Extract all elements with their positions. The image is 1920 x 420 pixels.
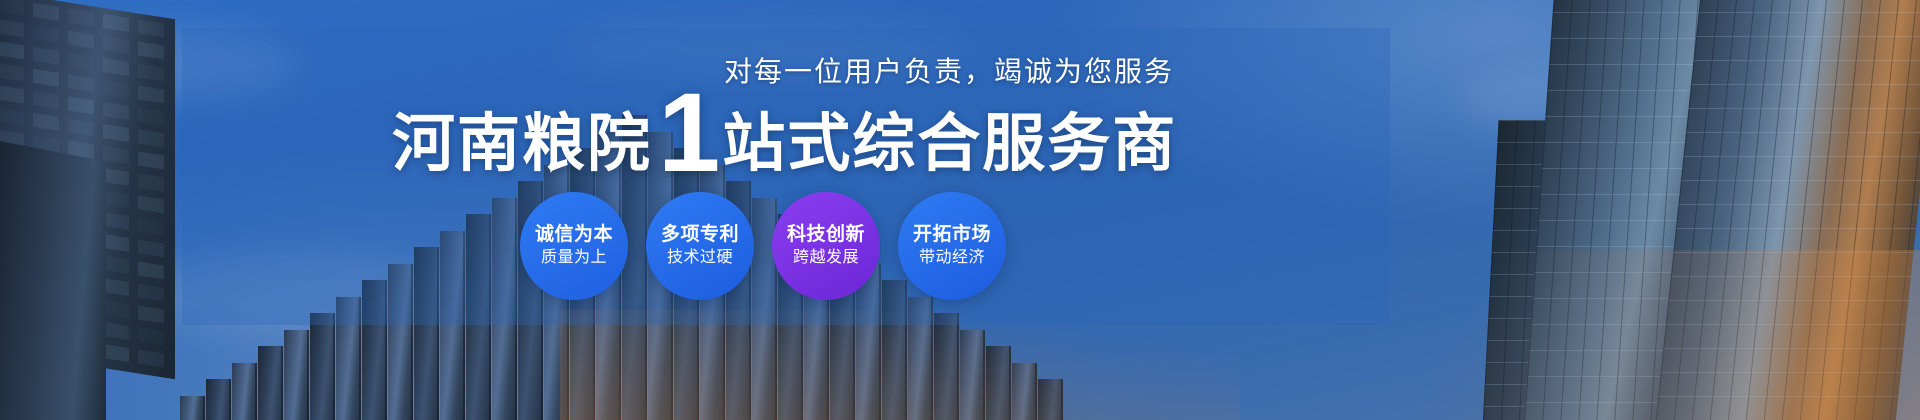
banner-content: 对每一位用户负责，竭诚为您服务 河南粮院 1 站式综合服务商 诚信为本质量为上多… bbox=[0, 0, 1920, 420]
banner-subtitle: 对每一位用户负责，竭诚为您服务 bbox=[724, 56, 1174, 88]
feature-badge[interactable]: 开拓市场带动经济 bbox=[898, 192, 1006, 300]
feature-badge-group: 诚信为本质量为上多项专利技术过硬科技创新跨越发展开拓市场带动经济 bbox=[520, 192, 1024, 300]
badge-main-label: 科技创新 bbox=[787, 223, 865, 247]
badge-main-label: 诚信为本 bbox=[535, 223, 613, 247]
badge-sub-label: 跨越发展 bbox=[793, 247, 859, 269]
badge-main-label: 开拓市场 bbox=[913, 223, 991, 247]
banner-headline: 河南粮院 1 站式综合服务商 bbox=[392, 94, 1177, 177]
badge-sub-label: 带动经济 bbox=[919, 247, 985, 269]
badge-sub-label: 质量为上 bbox=[541, 247, 607, 269]
feature-badge[interactable]: 科技创新跨越发展 bbox=[772, 192, 880, 300]
badge-sub-label: 技术过硬 bbox=[667, 247, 733, 269]
feature-badge[interactable]: 多项专利技术过硬 bbox=[646, 192, 754, 300]
badge-main-label: 多项专利 bbox=[661, 223, 739, 247]
promotional-banner: 对每一位用户负责，竭诚为您服务 河南粮院 1 站式综合服务商 诚信为本质量为上多… bbox=[0, 0, 1920, 420]
headline-number-one: 1 bbox=[658, 100, 720, 166]
feature-badge[interactable]: 诚信为本质量为上 bbox=[520, 192, 628, 300]
headline-prefix: 河南粮院 bbox=[392, 111, 652, 177]
headline-suffix: 站式综合服务商 bbox=[722, 111, 1177, 177]
